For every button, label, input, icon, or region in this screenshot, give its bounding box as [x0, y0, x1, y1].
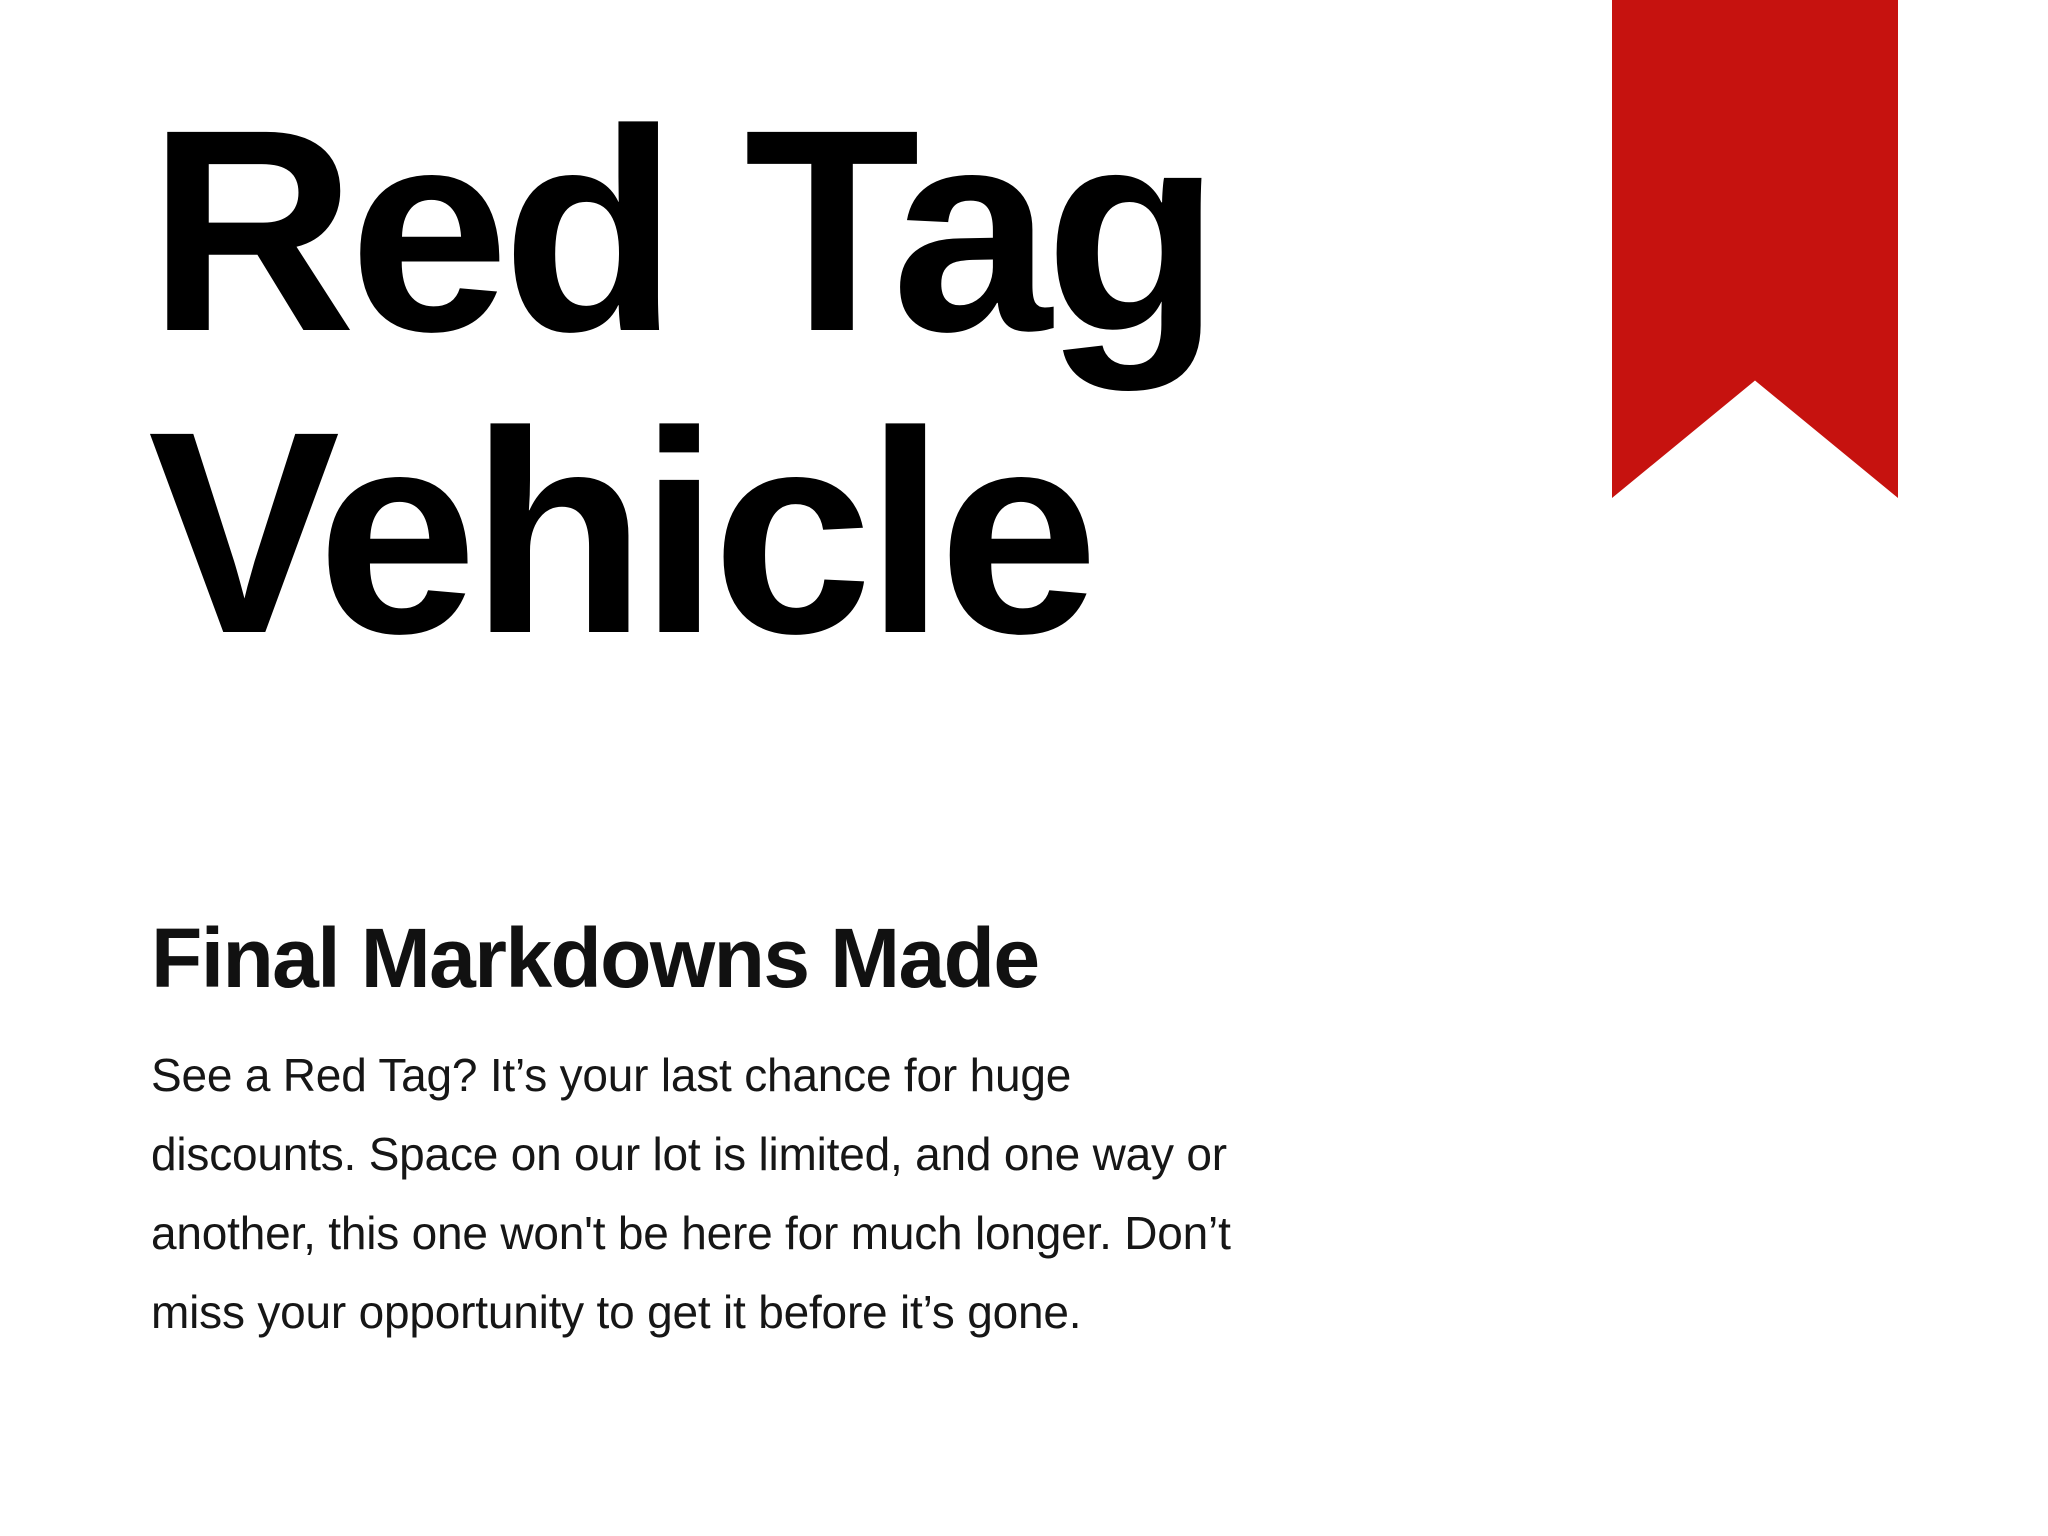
- subheading: Final Markdowns Made: [151, 913, 1039, 1003]
- red-tag-ribbon-icon: [1612, 0, 1898, 498]
- body-paragraph: See a Red Tag? It’s your last chance for…: [151, 1036, 1271, 1352]
- promo-card: Red Tag Vehicle Final Markdowns Made See…: [0, 0, 2048, 1536]
- page-title: Red Tag Vehicle: [148, 80, 1528, 684]
